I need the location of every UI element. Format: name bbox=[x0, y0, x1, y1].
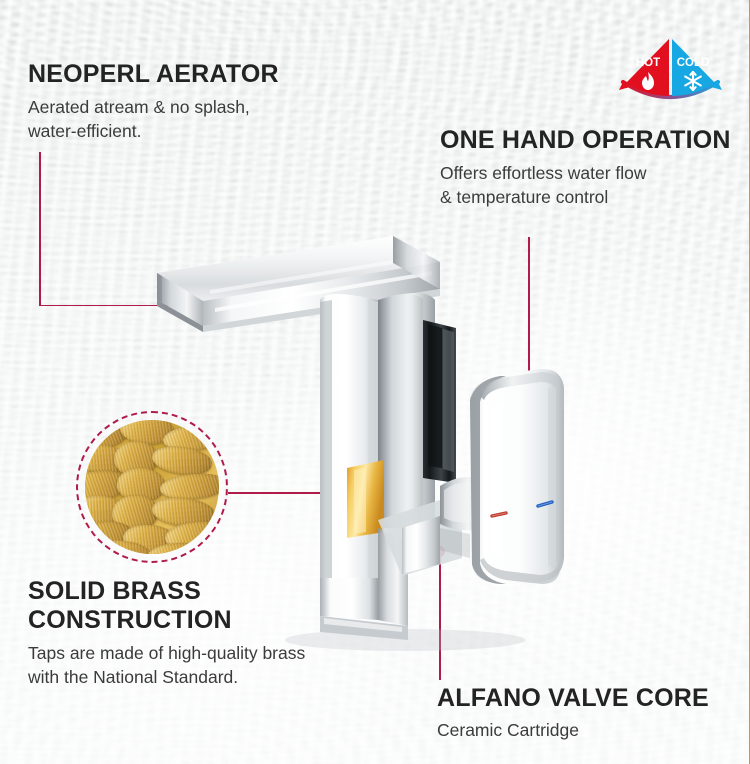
leader-line-aerator-vertical bbox=[39, 152, 41, 306]
badge-hot-label: HOT bbox=[636, 57, 660, 69]
callout-title-brass: SOLID BRASS CONSTRUCTION bbox=[28, 577, 305, 635]
callout-neoperl-aerator: NEOPERL AERATOR Aerated atream & no spla… bbox=[28, 60, 279, 144]
brass-rods-inset bbox=[76, 411, 228, 563]
callout-alfano-valve-core: ALFANO VALVE CORE Ceramic Cartridge bbox=[437, 684, 709, 743]
badge-cold-label: COLD bbox=[677, 57, 710, 69]
brass-rods-image bbox=[85, 420, 219, 554]
callout-solid-brass-construction: SOLID BRASS CONSTRUCTION Taps are made o… bbox=[28, 577, 305, 690]
callout-subtitle-one-hand: Offers effortless water flow & temperatu… bbox=[440, 162, 731, 210]
callout-title-aerator: NEOPERL AERATOR bbox=[28, 60, 279, 89]
callout-title-valve: ALFANO VALVE CORE bbox=[437, 684, 709, 713]
infographic-canvas: HOT COLD NEOPERL AERATOR Aerated atream … bbox=[0, 0, 750, 764]
callout-subtitle-valve: Ceramic Cartridge bbox=[437, 719, 709, 743]
callout-one-hand-operation: ONE HAND OPERATION Offers effortless wat… bbox=[440, 126, 731, 210]
callout-subtitle-brass: Taps are made of high-quality brass with… bbox=[28, 642, 305, 690]
hot-cold-badge: HOT COLD bbox=[613, 36, 728, 108]
callout-subtitle-aerator: Aerated atream & no splash, water-effici… bbox=[28, 96, 279, 144]
callout-title-one-hand: ONE HAND OPERATION bbox=[440, 126, 731, 155]
